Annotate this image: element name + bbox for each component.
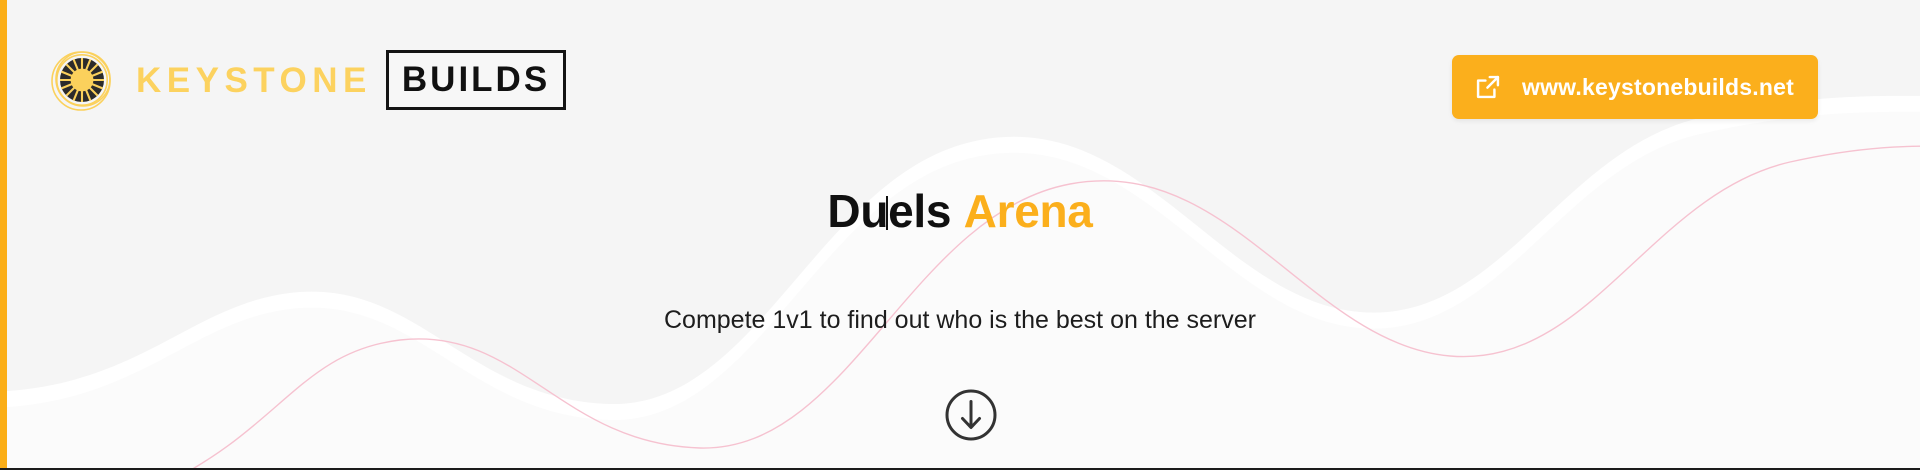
- page-subtitle: Compete 1v1 to find out who is the best …: [0, 308, 1920, 333]
- page-title-accent: Arena: [964, 185, 1093, 237]
- brand-builds-label: BUILDS: [402, 62, 550, 97]
- hero-banner: KEYSTONE BUILDS www.keystonebuilds.net D…: [0, 0, 1920, 470]
- external-link-icon: [1474, 73, 1502, 101]
- page-title: Duels Arena: [0, 188, 1920, 234]
- website-link-label: www.keystonebuilds.net: [1522, 74, 1794, 101]
- text-caret: [886, 196, 888, 230]
- page-title-primary: Duels: [827, 185, 951, 237]
- brand-wordmark: KEYSTONE: [136, 63, 372, 98]
- brand-builds-box: BUILDS: [386, 50, 566, 110]
- wave-curve-line: [160, 146, 1920, 470]
- website-link-button[interactable]: www.keystonebuilds.net: [1452, 55, 1818, 119]
- brand-lockup[interactable]: KEYSTONE BUILDS: [50, 48, 566, 112]
- left-accent-bar: [0, 0, 7, 470]
- keystone-circular-emblem-icon: [50, 48, 114, 112]
- scroll-down-button[interactable]: [944, 388, 998, 442]
